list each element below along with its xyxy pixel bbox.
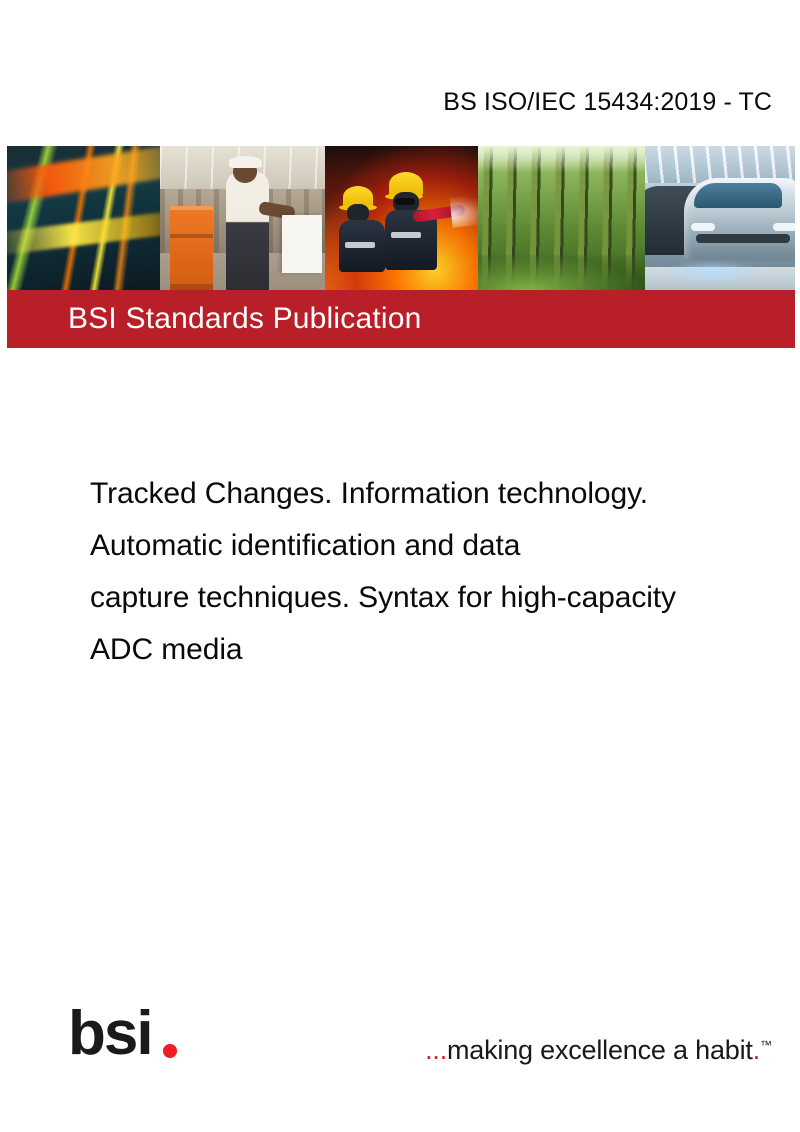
title-line: capture techniques. Syntax for high-capa… — [90, 572, 770, 624]
trademark-icon: ™ — [760, 1038, 772, 1052]
car-grille — [696, 234, 790, 243]
photo-panel-traffic-light-trails — [7, 146, 160, 290]
car-underglow — [660, 261, 765, 284]
car-headlamp-right — [773, 223, 795, 231]
car-headlamp-left — [691, 223, 715, 231]
tagline-period: . — [753, 1035, 760, 1065]
cover-photo-strip — [7, 146, 795, 290]
bsi-tagline: ...making excellence a habit.™ — [425, 1035, 772, 1066]
bsi-logo-dot-icon — [163, 1044, 177, 1058]
standards-publication-banner: BSI Standards Publication — [7, 290, 795, 348]
bsi-logo-wordmark: bsi — [68, 999, 152, 1068]
document-reference: BS ISO/IEC 15434:2019 - TC — [443, 88, 772, 117]
publication-title: Tracked Changes. Information technology.… — [90, 468, 770, 676]
bsi-logo: bsi — [68, 1003, 198, 1065]
car-windshield — [694, 183, 783, 208]
title-line: ADC media — [90, 624, 770, 676]
tagline-text: making excellence a habit — [447, 1035, 753, 1065]
photo-panel-car-assembly — [645, 146, 795, 290]
car-front-vehicle — [684, 178, 795, 262]
cover-page: BS ISO/IEC 15434:2019 - TC — [0, 0, 800, 1132]
forest-floor — [478, 255, 645, 290]
warehouse-paper-stack — [282, 215, 322, 273]
warehouse-crate — [170, 206, 213, 290]
warehouse-worker-body — [226, 172, 269, 290]
tagline-ellipsis: ... — [425, 1035, 447, 1065]
photo-panel-firefighters — [325, 146, 478, 290]
water-spray — [450, 194, 478, 227]
title-line: Tracked Changes. Information technology. — [90, 468, 770, 520]
warehouse-worker-cap — [229, 156, 262, 168]
photo-panel-warehouse-worker — [160, 146, 325, 290]
firefighter-torso — [339, 220, 385, 272]
forest-canopy — [478, 146, 645, 172]
firefighter-visor — [395, 198, 415, 205]
banner-label: BSI Standards Publication — [68, 302, 422, 336]
title-line: Automatic identification and data — [90, 520, 770, 572]
photo-panel-forest — [478, 146, 645, 290]
